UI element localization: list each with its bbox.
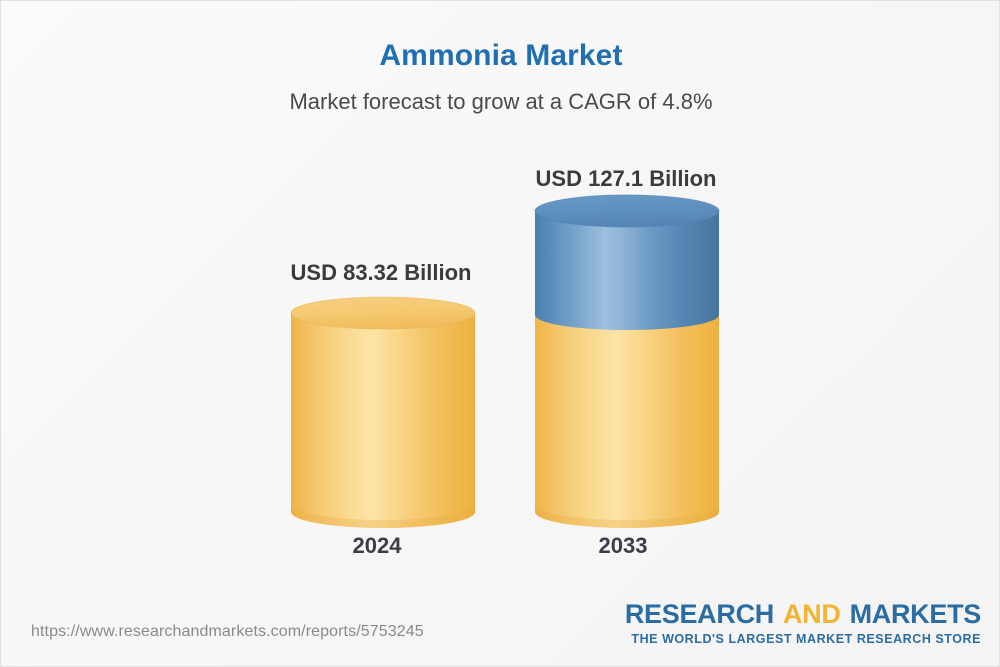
logo-tagline: THE WORLD'S LARGEST MARKET RESEARCH STOR…: [625, 633, 981, 646]
logo-word-research: RESEARCH: [625, 599, 774, 629]
logo-word-and: AND: [783, 599, 841, 629]
plot-area: USD 83.32 Billion: [1, 1, 1000, 601]
value-label-2024: USD 83.32 Billion: [231, 260, 531, 286]
logo-word-markets: MARKETS: [850, 599, 981, 629]
bar-body: [291, 313, 475, 528]
chart-canvas: Ammonia Market Market forecast to grow a…: [0, 0, 1000, 667]
bar-segment-base: [535, 315, 719, 528]
logo-wordmark: RESEARCHANDMARKETS: [625, 601, 981, 628]
cylinder-bar-2033[interactable]: [531, 197, 731, 529]
research-and-markets-logo[interactable]: RESEARCHANDMARKETS THE WORLD'S LARGEST M…: [625, 601, 981, 646]
cylinder-bar-2024[interactable]: [287, 299, 487, 529]
report-url[interactable]: https://www.researchandmarkets.com/repor…: [31, 623, 424, 641]
value-label-2033: USD 127.1 Billion: [476, 166, 776, 192]
category-label-2033: 2033: [473, 533, 773, 559]
bar-segment-growth: [535, 211, 719, 330]
